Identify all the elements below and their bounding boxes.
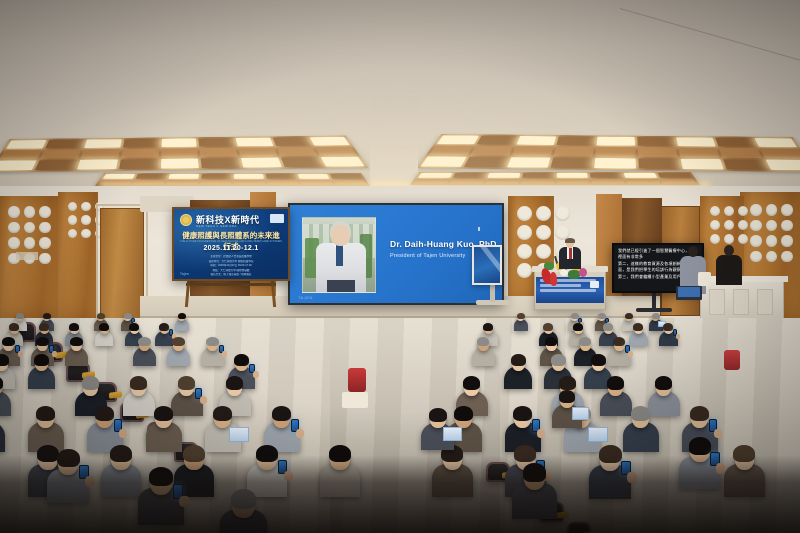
audience-member-hair [234, 354, 249, 366]
acoustic-disc [750, 204, 762, 216]
audience-member-hair [272, 406, 292, 421]
acoustic-disc [781, 235, 793, 247]
hand [537, 429, 545, 438]
standing-person-head [688, 246, 698, 257]
audience-member-hair [36, 337, 48, 347]
audience-member-hair [70, 337, 82, 347]
acoustic-disc [738, 220, 748, 230]
desk-panel [709, 289, 725, 315]
auditorium-photo: Dr. Daih-Huang Kuo, PhD. President of Ta… [0, 0, 800, 533]
audience-member-hair [39, 323, 49, 331]
audience-member-hair [36, 406, 56, 421]
hand [52, 351, 57, 357]
audience-member-hair [571, 313, 579, 319]
acoustic-disc [724, 220, 734, 230]
confidence-monitor-screen [474, 247, 500, 283]
audience-member-hair [573, 323, 583, 331]
audience-member-hair [625, 313, 633, 319]
acoustic-disc [750, 251, 762, 263]
audience-member-hair [154, 406, 174, 421]
audience-member-hair [226, 376, 243, 389]
audience-member-hair [138, 337, 150, 347]
laptop-screen [678, 287, 700, 297]
audience-member-hair [663, 323, 673, 331]
acoustic-disc [555, 206, 570, 221]
audience-member-hair [2, 337, 14, 347]
audience-member-hair [579, 337, 591, 347]
acoustic-disc [81, 229, 90, 238]
standing-person-body [716, 255, 742, 285]
acoustic-disc [766, 235, 778, 247]
audience-member-hair [178, 313, 186, 319]
audience-member-hair [631, 406, 651, 421]
easel-crossbar [186, 283, 276, 286]
acoustic-discs-right-outer [744, 198, 796, 268]
acoustic-disc [68, 215, 77, 224]
ceiling-light-falloff [0, 0, 800, 200]
portrait-head [331, 225, 350, 246]
acoustic-disc [517, 263, 532, 278]
wall-plate-left [16, 252, 38, 260]
acoustic-disc [8, 237, 20, 249]
audience-member-hair [16, 313, 24, 319]
audience-member-hair [559, 390, 575, 403]
acoustic-disc [68, 202, 77, 211]
acoustic-disc [536, 244, 551, 259]
acoustic-disc [517, 206, 532, 221]
acoustic-disc [724, 206, 734, 216]
acoustic-disc [710, 234, 720, 244]
audience-member-hair [633, 323, 643, 331]
conference-booklet[interactable] [572, 407, 589, 419]
audience-member-hair [213, 406, 233, 421]
flower-white [560, 269, 568, 276]
acoustic-discs-left-inner [62, 196, 96, 244]
poster-subtitle-en: THE FUTURE PROGRESSIVE OF HEALTHCARE AND… [179, 240, 283, 243]
audience-member-hair [652, 313, 660, 319]
audience-member-hair [511, 354, 526, 366]
audience-member-hair [545, 337, 557, 347]
floor-bag [342, 392, 368, 408]
acoustic-disc [517, 244, 532, 259]
handbag-red [724, 350, 740, 370]
tv-stand-base [636, 308, 672, 312]
hand [200, 396, 207, 404]
audience-member-hair [454, 406, 474, 421]
audience-member-hair [655, 376, 672, 389]
hand [296, 429, 304, 438]
acoustic-disc [536, 206, 551, 221]
acoustic-disc [8, 206, 20, 218]
audience-member-hair [513, 406, 533, 421]
audience-member-hair [559, 376, 576, 389]
podium-banner-line [540, 284, 581, 287]
acoustic-disc [750, 220, 762, 232]
desk-panel [757, 289, 773, 315]
acoustic-disc [24, 206, 36, 218]
poster-footer-logo: Tajen [180, 272, 189, 276]
audience-member-hair [95, 406, 115, 421]
audience-member-hair [97, 313, 105, 319]
acoustic-disc [766, 204, 778, 216]
flower-pink [579, 268, 587, 277]
audience-member-hair [9, 323, 19, 331]
audience-member-hair [690, 406, 710, 421]
hand [714, 429, 722, 438]
audience-member-hair [429, 408, 447, 422]
podium-banner-line [540, 289, 596, 292]
hand [119, 429, 127, 438]
acoustic-disc [24, 237, 36, 249]
audience-member-hair [130, 376, 147, 389]
mouse-cursor-icon [478, 227, 480, 231]
poster-detail-lines: 主辦單位：社團法人台灣長照醫學會協辦單位：大仁科技大學 健康照護學院時間：202… [184, 255, 278, 278]
podium-banner-badge [590, 281, 599, 288]
screen-glare [474, 247, 500, 274]
acoustic-disc [536, 225, 551, 240]
audience-member-hair [689, 437, 711, 454]
audience-member-hair [178, 376, 195, 389]
audience-member-hair [0, 354, 9, 366]
hand [222, 351, 227, 357]
acoustic-disc [68, 229, 77, 238]
portrait-tie [336, 244, 343, 266]
audience-member-hair [124, 313, 132, 319]
confidence-monitor-frame [472, 245, 502, 285]
audience-member-hair [477, 337, 489, 347]
acoustic-disc [750, 235, 762, 247]
poster-detail-line: 報名方式：線上報名系統 / 現場報名 [184, 273, 278, 278]
poster-date: 2025.11.20-12.1 [174, 245, 288, 252]
audience-member-hair [483, 323, 493, 331]
acoustic-disc [39, 237, 51, 249]
acoustic-disc [81, 202, 90, 211]
door-left[interactable] [100, 208, 144, 320]
audience-member-hair [591, 354, 606, 366]
conference-booklet[interactable] [588, 427, 609, 442]
acoustic-disc [710, 206, 720, 216]
audience-member-hair [607, 376, 624, 389]
audience-member-hair [99, 323, 109, 331]
portrait-legs [327, 280, 355, 293]
standing-person-papers [698, 272, 711, 286]
acoustic-disc [781, 251, 793, 263]
acoustic-disc [710, 220, 720, 230]
audience-member-hair [69, 323, 79, 331]
audience-member-hair [34, 354, 49, 366]
poster-main-title-en: NEW TECH X NEW ERA [196, 224, 237, 228]
acoustic-disc [781, 204, 793, 216]
hand [18, 351, 23, 357]
projection-screen: Dr. Daih-Huang Kuo, PhD. President of Ta… [290, 205, 502, 303]
acoustic-discs-right-inner [704, 200, 740, 250]
event-poster-board: 新科技X新時代 NEW TECH X NEW ERA 健康照護與長照體系的未來進… [172, 207, 290, 281]
acoustic-disc [517, 225, 532, 240]
hand [676, 334, 680, 339]
audience-member-hair [543, 323, 553, 331]
standing-person-head [724, 245, 734, 256]
hand [253, 371, 259, 378]
acoustic-disc [766, 220, 778, 232]
stage-speaker-tie [569, 248, 572, 259]
foreground-shadow [0, 455, 800, 533]
audience-member-hair [463, 376, 480, 389]
acoustic-disc [81, 215, 90, 224]
slide-portrait-photo [302, 217, 376, 293]
audience-member-hair [43, 313, 51, 319]
acoustic-disc [39, 253, 51, 265]
acoustic-disc [39, 222, 51, 234]
audience-member-hair [172, 337, 184, 347]
acoustic-disc [39, 206, 51, 218]
audience-member-hair [159, 323, 169, 331]
registration-desk [700, 280, 784, 322]
audience-member-hair [551, 354, 566, 366]
acoustic-disc [738, 234, 748, 244]
audience-member-hair [82, 376, 99, 389]
acoustic-disc [766, 251, 778, 263]
audience-member-hair [613, 337, 625, 347]
audience-member-hair [603, 323, 613, 331]
stage-speaker-hair [565, 238, 575, 243]
organizer-seal-icon [180, 214, 192, 226]
flower-red [550, 272, 558, 286]
slide-watermark: TAJEN [298, 295, 313, 300]
acoustic-disc [8, 222, 20, 234]
acoustic-disc [781, 220, 793, 232]
acoustic-disc [24, 222, 36, 234]
desk-panel [733, 289, 749, 315]
acoustic-disc [738, 206, 748, 216]
audience-member-hair [129, 323, 139, 331]
conference-booklet[interactable] [229, 427, 250, 442]
handbag-red [348, 368, 366, 392]
audience-member-hair [517, 313, 525, 319]
poster-corner-tag [270, 214, 284, 223]
conference-booklet[interactable] [443, 427, 462, 441]
audience-member-hair [206, 337, 218, 347]
audience-member-hair [598, 313, 606, 319]
acoustic-disc [724, 234, 734, 244]
